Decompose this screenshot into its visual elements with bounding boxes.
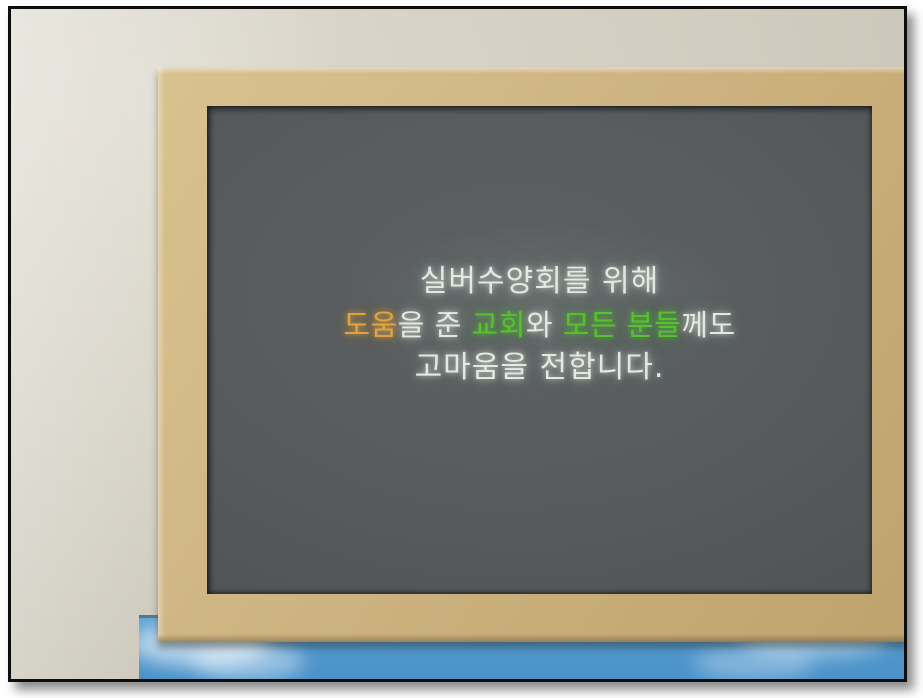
frame-bevel-top (158, 67, 907, 74)
slide-line-2-segment-3: 교회 (472, 308, 526, 342)
photograph: 실버수양회를 위해 도움을 준 교회와 모든 분들께도 고마움을 전합니다. (8, 6, 907, 682)
slide-line-2-segment-2: 을 준 (398, 308, 472, 342)
slide-line-2: 도움을 준 교회와 모든 분들께도 (207, 304, 872, 346)
frame-bevel-left (158, 67, 165, 642)
slide-line-2-segment-1: 도움 (343, 308, 397, 342)
slide-line-2-segment-6: 께도 (681, 308, 735, 342)
projection-screen: 실버수양회를 위해 도움을 준 교회와 모든 분들께도 고마움을 전합니다. (207, 106, 872, 594)
slide-line-2-segment-5: 모든 분들 (563, 308, 681, 342)
projected-slide-text: 실버수양회를 위해 도움을 준 교회와 모든 분들께도 고마움을 전합니다. (207, 260, 872, 390)
slide-line-1-segment-1: 실버수양회를 위해 (420, 264, 659, 299)
slide-line-2-segment-4: 와 (526, 308, 563, 342)
slide-line-3: 고마움을 전합니다. (207, 346, 872, 390)
cloud-shape (194, 641, 304, 679)
slide-line-3-segment-1: 고마움을 전합니다. (415, 350, 665, 385)
slide-line-1: 실버수양회를 위해 (207, 260, 872, 304)
wooden-frame: 실버수양회를 위해 도움을 준 교회와 모든 분들께도 고마움을 전합니다. (158, 67, 907, 642)
cloud-shape (694, 645, 814, 679)
frame-bevel-bottom (158, 634, 907, 642)
